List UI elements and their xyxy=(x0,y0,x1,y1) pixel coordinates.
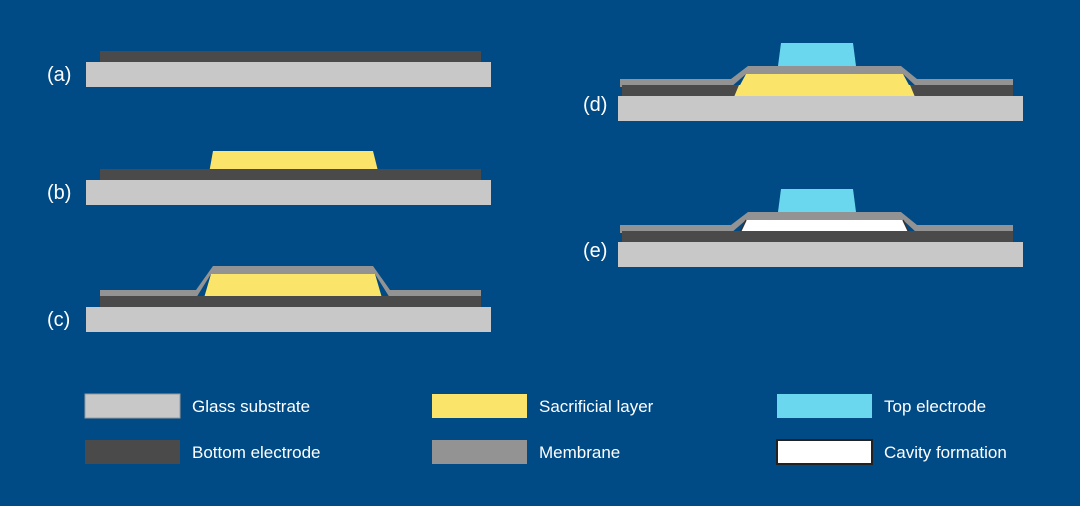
panel-c-glass-substrate xyxy=(86,307,491,332)
legend-label-bottom-electrode: Bottom electrode xyxy=(192,443,321,462)
panel-d-sacrificial-layer xyxy=(734,85,915,97)
legend-item-bottom-electrode: Bottom electrode xyxy=(85,440,321,464)
panel-e-glass-substrate xyxy=(618,242,1023,267)
panel-b-bottom-electrode xyxy=(100,169,481,181)
process-flow-diagram: (a) (b) (c) (d) xyxy=(0,0,1080,506)
panel-d-top-electrode xyxy=(778,43,856,66)
panel-b-glass-substrate xyxy=(86,180,491,205)
legend-swatch-membrane xyxy=(432,440,527,464)
panel-d-label: (d) xyxy=(583,94,607,116)
panel-a-label: (a) xyxy=(47,64,71,86)
panel-c-bottom-electrode xyxy=(100,296,481,308)
panel-d-glass-substrate xyxy=(618,96,1023,121)
legend-label-glass-substrate: Glass substrate xyxy=(192,397,310,416)
legend-swatch-glass-substrate xyxy=(85,394,180,418)
panel-e-top-electrode xyxy=(778,189,856,212)
legend-label-cavity-formation: Cavity formation xyxy=(884,443,1007,462)
legend-item-membrane: Membrane xyxy=(432,440,620,464)
panel-e-bottom-electrode xyxy=(622,231,1013,243)
legend-label-membrane: Membrane xyxy=(539,443,620,462)
panel-b-label: (b) xyxy=(47,182,71,204)
legend-item-glass-substrate: Glass substrate xyxy=(85,394,310,418)
legend-swatch-sacrificial-layer xyxy=(432,394,527,418)
legend-item-sacrificial-layer: Sacrificial layer xyxy=(432,394,654,418)
panel-a-bottom-electrode xyxy=(100,51,481,63)
legend-swatch-cavity-formation xyxy=(777,440,872,464)
panel-c-label: (c) xyxy=(47,309,70,331)
legend-swatch-top-electrode xyxy=(777,394,872,418)
panel-a-glass-substrate xyxy=(86,62,491,87)
legend-item-cavity-formation: Cavity formation xyxy=(777,440,1007,464)
figure-root: (a) (b) (c) (d) xyxy=(0,0,1080,506)
panel-c-sacrificial-layer xyxy=(204,274,382,298)
legend-label-sacrificial-layer: Sacrificial layer xyxy=(539,397,654,416)
legend-label-top-electrode: Top electrode xyxy=(884,397,986,416)
panel-a: (a) xyxy=(47,51,491,87)
legend-swatch-bottom-electrode xyxy=(85,440,180,464)
panel-e-label: (e) xyxy=(583,240,607,262)
